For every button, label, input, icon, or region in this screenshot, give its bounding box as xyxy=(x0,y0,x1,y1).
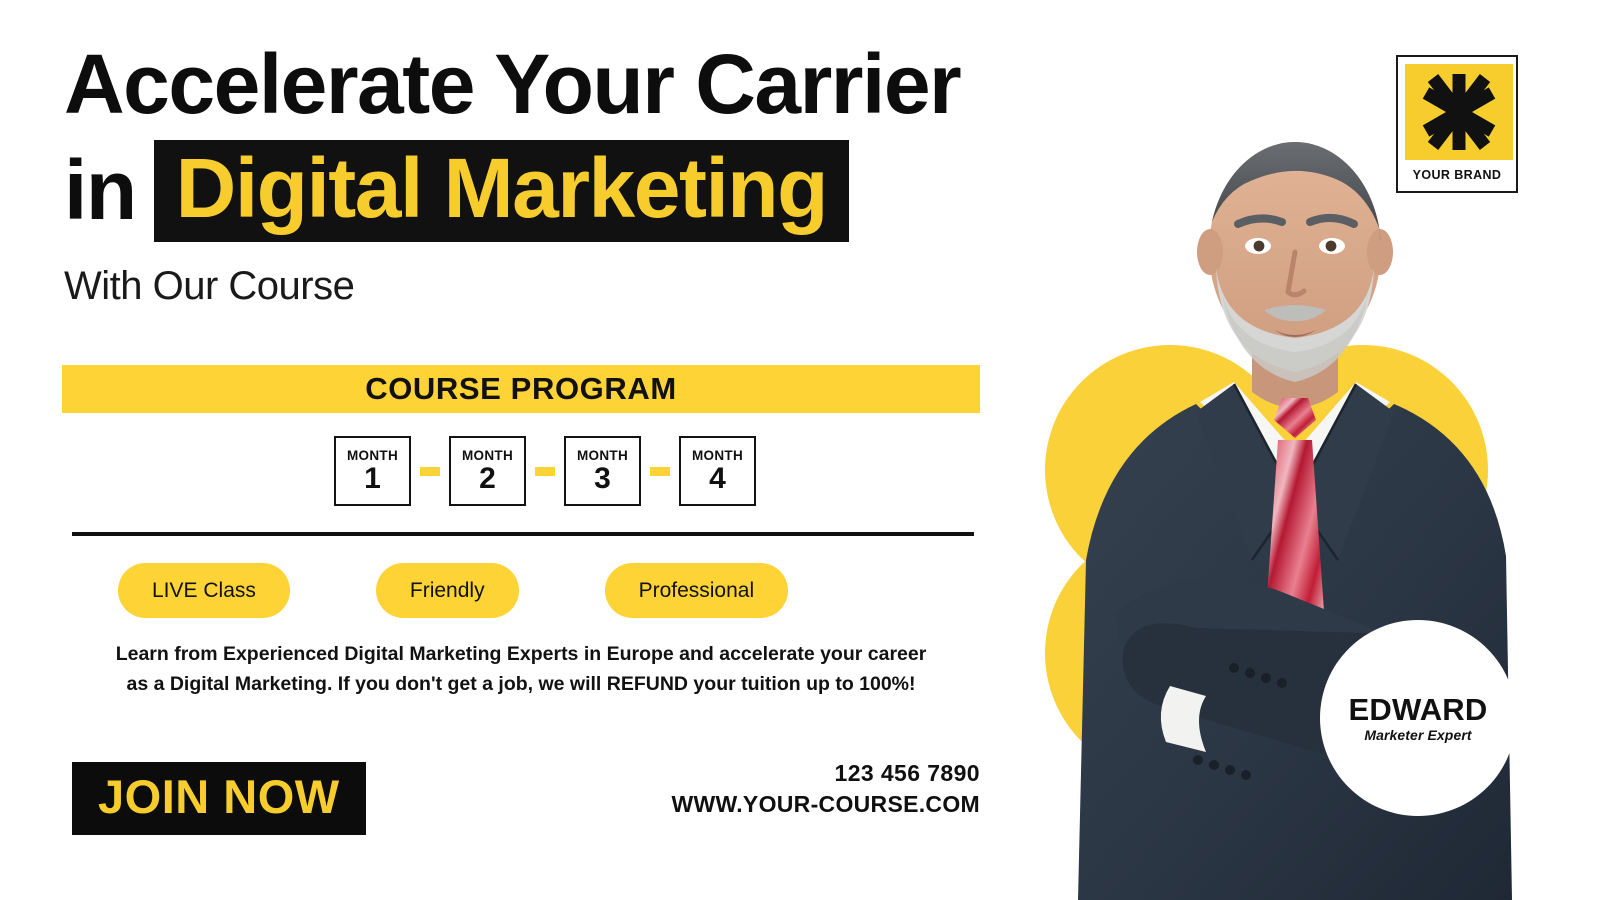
headline-subhead: With Our Course xyxy=(64,264,1004,309)
description-line-1: Learn from Experienced Digital Marketing… xyxy=(78,641,964,669)
description-text: Learn from Experienced Digital Marketing… xyxy=(78,641,964,698)
headline-highlight: Digital Marketing xyxy=(154,140,849,242)
month-box-3[interactable]: MONTH 3 xyxy=(564,436,641,506)
month-label: MONTH xyxy=(347,448,398,463)
contact-phone[interactable]: 123 456 7890 xyxy=(640,760,980,787)
month-number: 4 xyxy=(709,464,726,494)
headline-block: Accelerate Your Carrier in Digital Marke… xyxy=(64,42,1004,309)
month-number: 1 xyxy=(364,464,381,494)
contact-website[interactable]: WWW.YOUR-COURSE.COM xyxy=(640,791,980,818)
presenter-name: EDWARD xyxy=(1349,694,1488,725)
month-label: MONTH xyxy=(577,448,628,463)
month-connector-icon xyxy=(650,467,670,476)
headline-line-2: in Digital Marketing xyxy=(64,140,1004,242)
description-line-2: as a Digital Marketing. If you don't get… xyxy=(78,671,964,699)
month-label: MONTH xyxy=(462,448,513,463)
course-program-label: COURSE PROGRAM xyxy=(365,371,677,407)
feature-pill-professional[interactable]: Professional xyxy=(605,563,789,618)
month-box-4[interactable]: MONTH 4 xyxy=(679,436,756,506)
section-divider xyxy=(72,532,974,536)
month-stepper: MONTH 1 MONTH 2 MONTH 3 MONTH 4 xyxy=(334,436,756,506)
feature-pill-group: LIVE Class Friendly Professional xyxy=(118,563,788,618)
month-box-2[interactable]: MONTH 2 xyxy=(449,436,526,506)
presenter-badge: EDWARD Marketer Expert xyxy=(1320,620,1516,816)
month-box-1[interactable]: MONTH 1 xyxy=(334,436,411,506)
month-number: 2 xyxy=(479,464,496,494)
join-now-button[interactable]: JOIN NOW xyxy=(72,762,366,835)
presenter-photo xyxy=(1020,0,1600,900)
course-program-bar: COURSE PROGRAM xyxy=(62,365,980,413)
hero-section: EDWARD Marketer Expert xyxy=(1020,0,1600,900)
month-connector-icon xyxy=(535,467,555,476)
join-now-label: JOIN NOW xyxy=(98,770,340,823)
month-connector-icon xyxy=(420,467,440,476)
headline-prefix: in xyxy=(64,148,154,234)
month-number: 3 xyxy=(594,464,611,494)
feature-pill-friendly[interactable]: Friendly xyxy=(376,563,519,618)
presenter-role: Marketer Expert xyxy=(1364,727,1471,743)
headline-line-1: Accelerate Your Carrier xyxy=(64,42,1004,128)
contact-info: 123 456 7890 WWW.YOUR-COURSE.COM xyxy=(640,760,980,818)
poster-canvas: Accelerate Your Carrier in Digital Marke… xyxy=(0,0,1600,900)
feature-pill-live-class[interactable]: LIVE Class xyxy=(118,563,290,618)
month-label: MONTH xyxy=(692,448,743,463)
